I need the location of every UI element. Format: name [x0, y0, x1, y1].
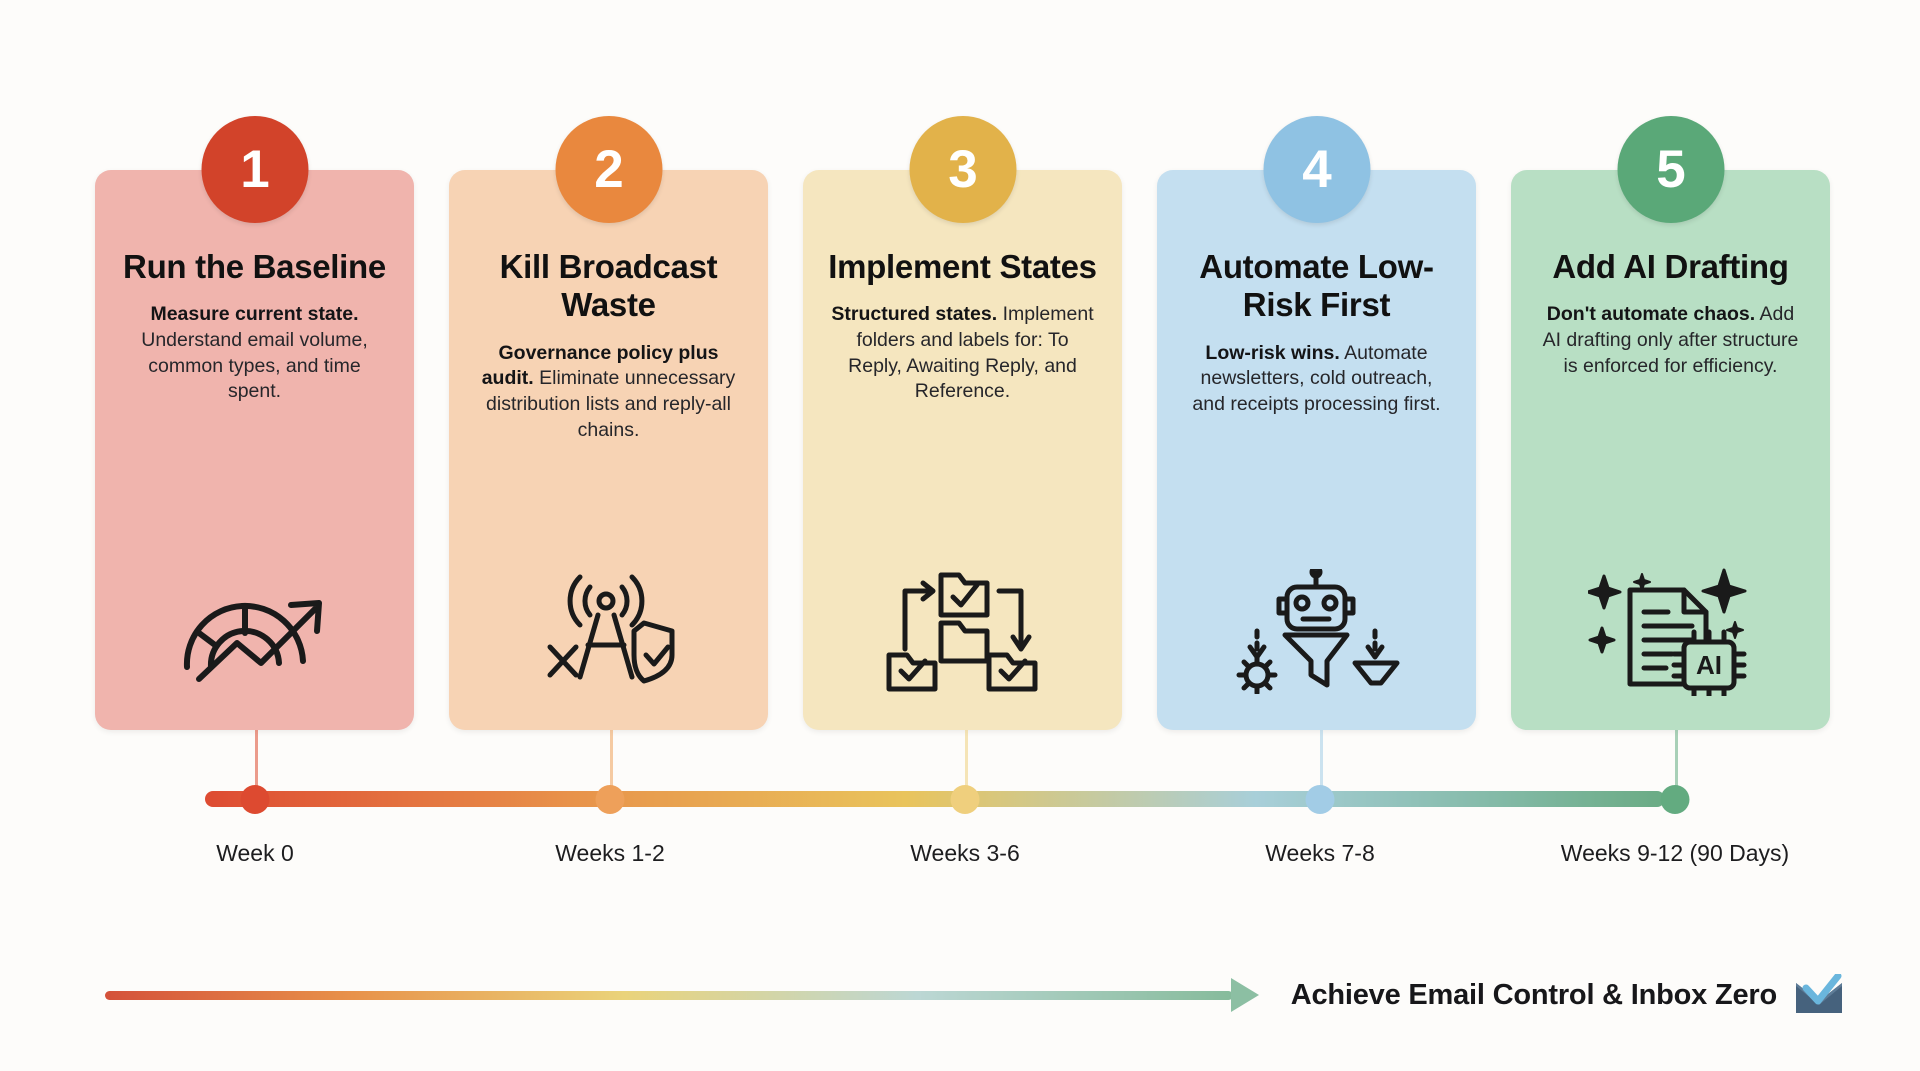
- step-body-2: Governance policy plus audit. Eliminate …: [449, 341, 768, 444]
- step-title-2: Kill Broadcast Waste: [449, 248, 768, 325]
- infographic-canvas: 1 Run the Baseline Measure current state…: [0, 0, 1920, 1071]
- step-title-4: Automate Low-Risk First: [1157, 248, 1476, 325]
- step-number-2: 2: [594, 143, 622, 196]
- timeline-dot-1[interactable]: [241, 785, 270, 814]
- timeline-track: [205, 791, 1665, 807]
- step-body-1: Measure current state. Understand email …: [95, 302, 414, 405]
- step-badge-5: 5: [1617, 116, 1724, 223]
- timeline-label-2: Weeks 1-2: [555, 840, 665, 867]
- step-title-5: Add AI Drafting: [1534, 248, 1806, 286]
- timeline-dot-5[interactable]: [1661, 785, 1690, 814]
- arrow-head: [1231, 978, 1259, 1012]
- step-card-2[interactable]: 2 Kill Broadcast Waste Governance policy…: [449, 170, 768, 730]
- timeline-label-5: Weeks 9-12 (90 Days): [1561, 840, 1789, 867]
- step-card-1[interactable]: 1 Run the Baseline Measure current state…: [95, 170, 414, 730]
- step-number-4: 4: [1302, 143, 1330, 196]
- step-badge-2: 2: [555, 116, 662, 223]
- step-badge-3: 3: [909, 116, 1016, 223]
- timeline-label-1: Week 0: [216, 840, 294, 867]
- timeline-dot-4[interactable]: [1306, 785, 1335, 814]
- gauge-growth-icon: [175, 566, 335, 696]
- ai-document-chip-icon: AI: [1588, 566, 1753, 696]
- step-card-3[interactable]: 3 Implement States Structured states. Im…: [803, 170, 1122, 730]
- email-check-icon: [1793, 974, 1845, 1016]
- step-body-3: Structured states. Implement folders and…: [803, 302, 1122, 405]
- timeline-label-3: Weeks 3-6: [910, 840, 1020, 867]
- step-number-3: 3: [948, 143, 976, 196]
- step-lead-4: Low-risk wins.: [1205, 342, 1339, 364]
- step-card-4[interactable]: 4 Automate Low-Risk First Low-risk wins.…: [1157, 170, 1476, 730]
- step-title-3: Implement States: [810, 248, 1114, 286]
- arrow-right-icon: [105, 991, 1233, 1000]
- step-body-4: Low-risk wins. Automate newsletters, col…: [1157, 341, 1476, 418]
- timeline-label-4: Weeks 7-8: [1265, 840, 1375, 867]
- step-badge-1: 1: [201, 116, 308, 223]
- steps-row: 1 Run the Baseline Measure current state…: [95, 170, 1830, 730]
- step-badge-4: 4: [1263, 116, 1370, 223]
- step-title-1: Run the Baseline: [105, 248, 404, 286]
- robot-funnel-gear-icon: [1229, 566, 1404, 696]
- broadcast-blocked-shield-icon: [524, 566, 694, 696]
- step-number-5: 5: [1656, 143, 1684, 196]
- step-number-1: 1: [240, 143, 268, 196]
- step-card-5[interactable]: 5 Add AI Drafting Don't automate chaos. …: [1511, 170, 1830, 730]
- step-lead-1: Measure current state.: [150, 303, 358, 325]
- step-body-5: Don't automate chaos. Add AI drafting on…: [1511, 302, 1830, 379]
- goal-arrow-row: Achieve Email Control & Inbox Zero: [105, 965, 1845, 1025]
- folder-workflow-icon: [883, 566, 1043, 696]
- step-lead-5: Don't automate chaos.: [1547, 303, 1755, 325]
- svg-text:AI: AI: [1696, 650, 1722, 680]
- step-lead-3: Structured states.: [831, 303, 997, 325]
- timeline-dot-2[interactable]: [596, 785, 625, 814]
- step-detail-1: Understand email volume, common types, a…: [141, 329, 368, 402]
- goal-label: Achieve Email Control & Inbox Zero: [1291, 979, 1777, 1012]
- timeline-dot-3[interactable]: [951, 785, 980, 814]
